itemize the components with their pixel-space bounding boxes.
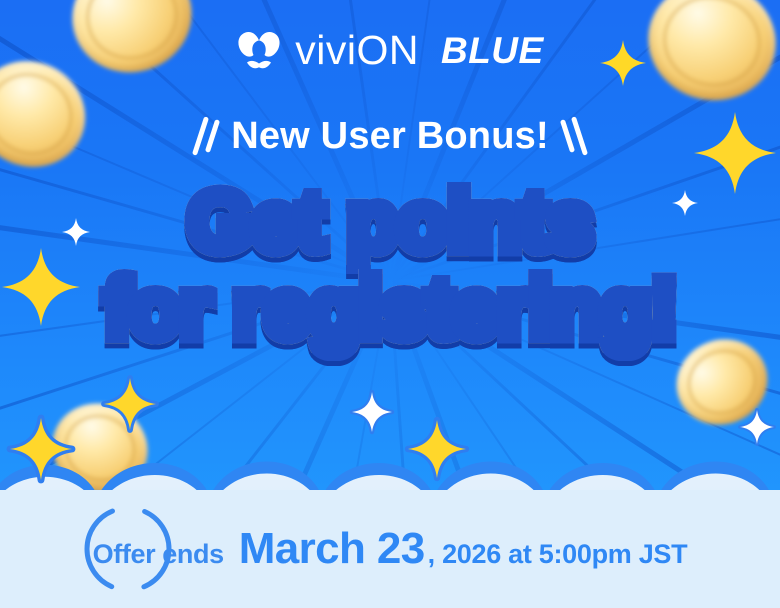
backslash-lines-decoration <box>198 114 215 158</box>
subheadline-text: New User Bonus! <box>231 117 549 155</box>
sparkle-white-center <box>352 392 392 432</box>
offer-text-group: Offer ends March 23 , 2026 at 5:00pm JST <box>93 524 688 574</box>
promo-banner: viviON BLUE New User Bonus! Get points f… <box>0 0 780 608</box>
headline-line-2: for registering! <box>0 265 780 352</box>
sparkle-yellow-lower-left <box>104 378 156 430</box>
sparkle-yellow-center <box>408 420 466 478</box>
logo-sub-wordmark: BLUE <box>441 32 544 69</box>
offer-details: , 2026 at 5:00pm JST <box>428 539 688 570</box>
viviON-heart-mustache-icon <box>236 29 282 71</box>
offer-strip: Offer ends March 23 , 2026 at 5:00pm JST <box>0 490 780 608</box>
offer-label: Offer ends <box>93 539 224 570</box>
offer-date: March 23 <box>239 524 425 574</box>
subheadline: New User Bonus! <box>0 114 780 158</box>
sparkle-yellow-cloud-left <box>10 418 72 480</box>
forwardslash-lines-decoration <box>565 114 582 158</box>
logo-wordmark: viviON <box>295 30 419 71</box>
brand-logo: viviON BLUE <box>0 29 780 71</box>
headline-line-1: Get points <box>0 178 780 265</box>
headline: Get points for registering! <box>0 178 780 353</box>
sparkle-white-right-low <box>740 410 774 444</box>
